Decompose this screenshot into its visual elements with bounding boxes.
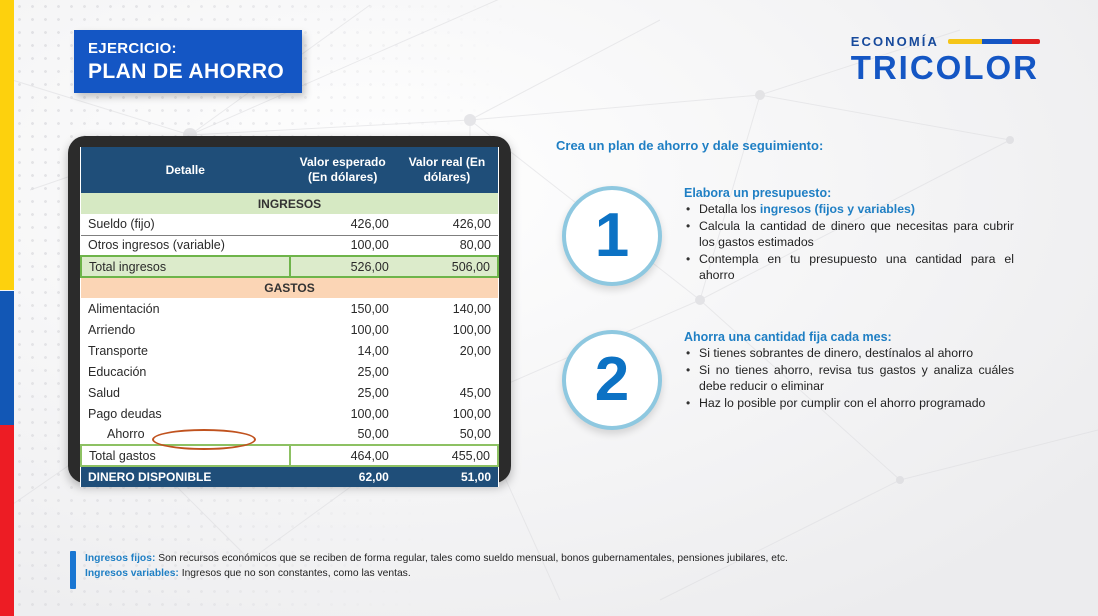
footer-def-2: Ingresos que no son constantes, como las…: [179, 568, 411, 579]
footer-term-1: Ingresos fijos:: [85, 553, 155, 564]
row-expected: 464,00: [290, 445, 396, 466]
row-label: Total ingresos: [81, 256, 290, 277]
list-item: Contempla en tu presupuesto una cantidad…: [684, 251, 1014, 284]
th-valor-real: Valor real (En dólares): [396, 147, 498, 193]
row-label: Educación: [81, 361, 290, 382]
row-expected: 25,00: [290, 382, 396, 403]
row-label-ahorro: Ahorro: [81, 424, 290, 445]
row-real: 140,00: [396, 298, 498, 319]
row-real: [396, 361, 498, 382]
flag-sidebar: [0, 0, 14, 616]
table-row: Pago deudas 100,00 100,00: [81, 403, 498, 424]
total-ingresos-row: Total ingresos 526,00 506,00: [81, 256, 498, 277]
table-header-row: Detalle Valor esperado (En dólares) Valo…: [81, 147, 498, 193]
step-1-heading: Elabora un presupuesto:: [684, 186, 1014, 200]
step-1-bullets: Detalla los ingresos (fijos y variables)…: [684, 201, 1014, 284]
row-expected: 526,00: [290, 256, 396, 277]
bullet-text: Detalla los: [699, 202, 760, 216]
row-expected: 426,00: [290, 214, 396, 235]
step-1-number: 1: [595, 205, 629, 267]
step-2-bullets: Si tienes sobrantes de dinero, destínalo…: [684, 345, 1014, 411]
footer-term-2: Ingresos variables:: [85, 568, 179, 579]
logo-tricolor-text: TRICOLOR: [851, 50, 1040, 86]
row-expected: 100,00: [290, 319, 396, 340]
table-row: Arriendo 100,00 100,00: [81, 319, 498, 340]
row-real: 80,00: [396, 235, 498, 256]
list-item: Detalla los ingresos (fijos y variables): [684, 201, 1014, 218]
row-label: Salud: [81, 382, 290, 403]
step-2-heading: Ahorra una cantidad fija cada mes:: [684, 330, 1014, 344]
logo-flag-icon: [948, 39, 1040, 44]
section-row-ingresos: INGRESOS: [81, 193, 498, 214]
row-real: 426,00: [396, 214, 498, 235]
section-row-gastos: GASTOS: [81, 277, 498, 298]
table-reflection: Ahorro 50,00 50,00 Total gastos 464,00 4…: [72, 487, 508, 549]
row-label: Arriendo: [81, 319, 290, 340]
flag-stripe-yellow: [0, 0, 14, 290]
step-2-number: 2: [595, 349, 629, 411]
table-row: Alimentación 150,00 140,00: [81, 298, 498, 319]
footer-def-1: Son recursos económicos que se reciben d…: [155, 553, 787, 564]
footer-line-2: Ingresos variables: Ingresos que no son …: [85, 567, 788, 582]
row-label: DINERO DISPONIBLE: [81, 466, 290, 487]
row-label: Transporte: [81, 340, 290, 361]
row-expected: 62,00: [290, 466, 396, 487]
footer-accent-bar: [70, 551, 76, 589]
table-row: Educación 25,00: [81, 361, 498, 382]
footer-line-1: Ingresos fijos: Son recursos económicos …: [85, 552, 788, 567]
banner-eyebrow: EJERCICIO:: [88, 39, 302, 58]
table-row: Transporte 14,00 20,00: [81, 340, 498, 361]
table-row: Sueldo (fijo) 426,00 426,00: [81, 214, 498, 235]
page-title: PLAN DE AHORRO: [88, 59, 302, 85]
th-valor-esperado: Valor esperado (En dólares): [290, 147, 396, 193]
row-real: 45,00: [396, 382, 498, 403]
logo: ECONOMÍA TRICOLOR: [851, 34, 1040, 86]
flag-stripe-blue: [0, 291, 14, 425]
row-real: 100,00: [396, 403, 498, 424]
dinero-disponible-row: DINERO DISPONIBLE 62,00 51,00: [81, 466, 498, 487]
row-real: 50,00: [396, 424, 498, 445]
bullet-highlight: ingresos (fijos y variables): [760, 202, 915, 216]
footer-note: Ingresos fijos: Son recursos económicos …: [70, 551, 870, 589]
footer-text: Ingresos fijos: Son recursos económicos …: [85, 551, 788, 581]
logo-economia-text: ECONOMÍA: [851, 34, 939, 49]
list-item: Calcula la cantidad de dinero que necesi…: [684, 218, 1014, 251]
step-1-body: Elabora un presupuesto: Detalla los ingr…: [684, 186, 1014, 284]
section-label-ingresos: INGRESOS: [81, 193, 498, 214]
row-label: Alimentación: [81, 298, 290, 319]
budget-table: Detalle Valor esperado (En dólares) Valo…: [80, 147, 499, 487]
section-label-gastos: GASTOS: [81, 277, 498, 298]
budget-table-card: Detalle Valor esperado (En dólares) Valo…: [68, 136, 511, 483]
title-banner: EJERCICIO: PLAN DE AHORRO: [74, 30, 302, 93]
row-expected: 100,00: [290, 235, 396, 256]
row-label: Sueldo (fijo): [81, 214, 290, 235]
row-label: Total gastos: [81, 445, 290, 466]
list-item: Si tienes sobrantes de dinero, destínalo…: [684, 345, 1014, 362]
th-detalle: Detalle: [81, 147, 290, 193]
flag-stripe-red: [0, 425, 14, 616]
row-real: 506,00: [396, 256, 498, 277]
row-label: Pago deudas: [81, 403, 290, 424]
row-expected: 50,00: [290, 424, 396, 445]
row-expected: 25,00: [290, 361, 396, 382]
row-real: 51,00: [396, 466, 498, 487]
table-row: Salud 25,00 45,00: [81, 382, 498, 403]
row-real: 20,00: [396, 340, 498, 361]
row-real: 100,00: [396, 319, 498, 340]
step-1-circle: 1: [562, 186, 662, 286]
list-item: Si no tienes ahorro, revisa tus gastos y…: [684, 362, 1014, 395]
row-label: Ahorro: [107, 427, 145, 441]
list-item: Haz lo posible por cumplir con el ahorro…: [684, 395, 1014, 412]
table-row: Otros ingresos (variable) 100,00 80,00: [81, 235, 498, 256]
row-expected: 14,00: [290, 340, 396, 361]
total-gastos-row: Total gastos 464,00 455,00: [81, 445, 498, 466]
row-real: 455,00: [396, 445, 498, 466]
table-row-ahorro: Ahorro 50,00 50,00: [81, 424, 498, 445]
row-label: Otros ingresos (variable): [81, 235, 290, 256]
row-expected: 100,00: [290, 403, 396, 424]
step-2-body: Ahorra una cantidad fija cada mes: Si ti…: [684, 330, 1014, 411]
row-expected: 150,00: [290, 298, 396, 319]
step-2-circle: 2: [562, 330, 662, 430]
instructions-heading: Crea un plan de ahorro y dale seguimient…: [556, 138, 823, 153]
